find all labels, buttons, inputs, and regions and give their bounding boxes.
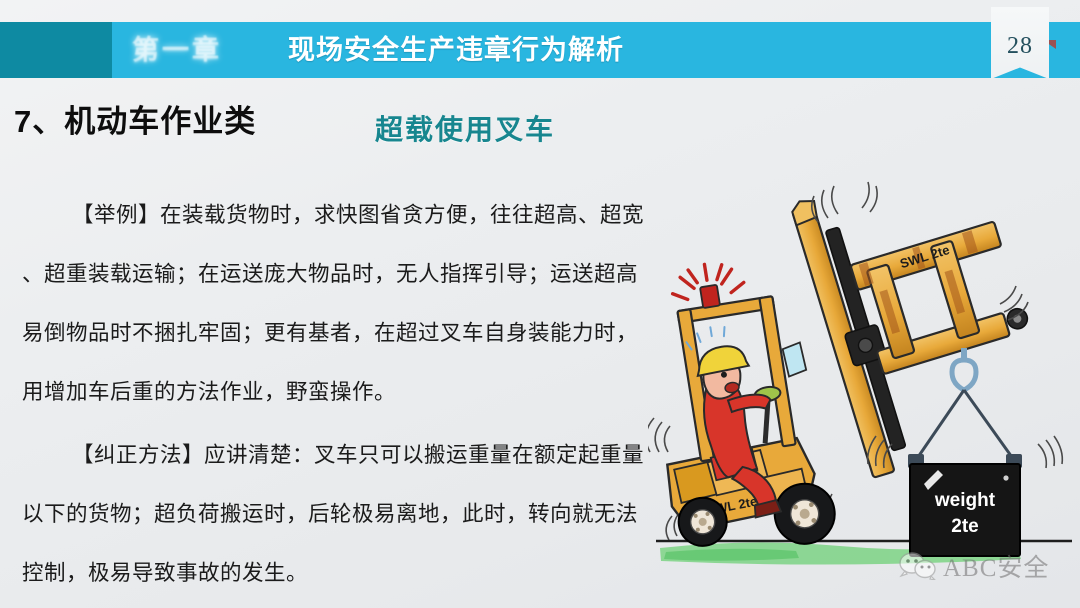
page-number: 28 xyxy=(1007,33,1033,60)
title-banner: 第一章 现场安全生产违章行为解析 xyxy=(0,22,1080,78)
text-line: 控制，极易导致事故的发生。 xyxy=(22,544,652,603)
example-paragraph: 【举例】在装载货物时，求快图省贪方便，往往超高、超宽 、超重装载运输；在运送庞大… xyxy=(22,186,652,422)
forklift-mast: SWL 2te xyxy=(790,176,1059,478)
slide-canvas: 第一章 现场安全生产违章行为解析 28 7、机动车作业类 超载使用叉车 【举例】… xyxy=(0,0,1080,608)
body-text-block: 【举例】在装载货物时，求快图省贪方便，往往超高、超宽 、超重装载运输；在运送庞大… xyxy=(22,186,652,607)
topic-heading: 超载使用叉车 xyxy=(375,108,555,148)
text-line: 以下的货物；超负荷搬运时，后轮极易离地，此时，转向就无法 xyxy=(22,485,652,544)
mirror xyxy=(782,342,807,377)
forklift-illustration-svg: SWL 2te xyxy=(648,176,1080,576)
load-label-amount: 2te xyxy=(951,516,978,537)
banner-chapter-label: 第一章 xyxy=(132,28,222,72)
text-line: 用增加车后重的方法作业，野蛮操作。 xyxy=(22,363,652,422)
suspended-load: weight 2te xyxy=(868,348,1063,556)
forklift-illustration: SWL 2te xyxy=(648,176,1080,576)
text-line: 易倒物品时不捆扎牢固；更有基者，在超过叉车自身装能力时， xyxy=(22,304,652,363)
wechat-icon xyxy=(898,552,938,580)
banner-left-block xyxy=(0,22,112,78)
text-line: 【纠正方法】应讲清楚：叉车只可以搬运重量在额定起重量 xyxy=(22,426,652,485)
text-line: 、超重装载运输；在运送庞大物品时，无人指挥引导；运送超高 xyxy=(22,245,652,304)
text-line: 【举例】在装载货物时，求快图省贪方便，往往超高、超宽 xyxy=(22,186,652,245)
section-heading: 7、机动车作业类 xyxy=(14,96,256,141)
correction-paragraph: 【纠正方法】应讲清楚：叉车只可以搬运重量在额定起重量 以下的货物；超负荷搬运时，… xyxy=(22,426,652,603)
watermark: ABC安全 xyxy=(898,548,1049,584)
watermark-text: ABC安全 xyxy=(943,548,1049,584)
banner-title-text: 现场安全生产违章行为解析 xyxy=(288,28,624,72)
load-label-weight: weight xyxy=(934,490,996,511)
